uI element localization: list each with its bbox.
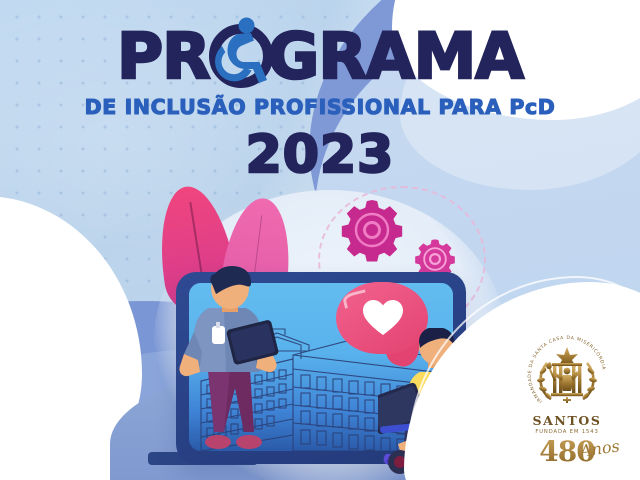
man-holding-tablet bbox=[178, 266, 290, 467]
poster-canvas: PR GRAMA DE INCLUSÃO PROFISSIONAL PARA P… bbox=[0, 0, 640, 480]
title-word-right: GRAMA bbox=[268, 31, 523, 83]
page-subtitle: DE INCLUSÃO PROFISSIONAL PARA PcD bbox=[0, 95, 640, 119]
year-label: 2023 bbox=[0, 125, 640, 185]
anniversary-word: Anos bbox=[579, 436, 621, 460]
santa-casa-logo[interactable]: IRMANDADE DA SANTA CASA DA MISERICÓRDIA bbox=[508, 333, 626, 468]
title-word-left: PR bbox=[117, 31, 210, 83]
gear-icon-large bbox=[340, 198, 404, 262]
headline-block: PR GRAMA DE INCLUSÃO PROFISSIONAL PARA P… bbox=[0, 24, 640, 185]
wheelchair-accessibility-icon bbox=[208, 24, 270, 90]
logo-anniversary: 480 Anos bbox=[508, 436, 626, 468]
santa-casa-crest-icon: IRMANDADE DA SANTA CASA DA MISERICÓRDIA bbox=[525, 333, 609, 417]
page-title: PR GRAMA bbox=[0, 24, 640, 90]
